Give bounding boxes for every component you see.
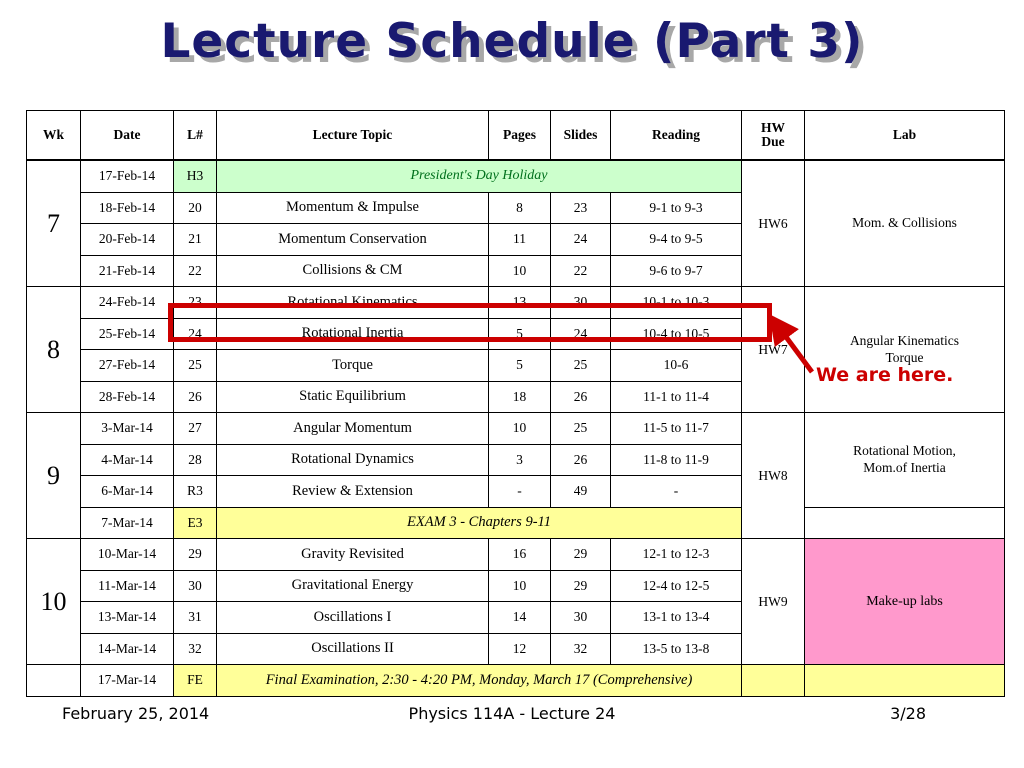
week-number: 9 [27, 413, 81, 539]
row-slides: 24 [551, 318, 611, 350]
row-lecture-number: 22 [174, 255, 217, 287]
row-reading: 13-1 to 13-4 [611, 602, 742, 634]
row-reading: 10-4 to 10-5 [611, 318, 742, 350]
row-lecture-number: R3 [174, 476, 217, 508]
row-slides: 26 [551, 444, 611, 476]
row-pages: 5 [489, 350, 551, 382]
row-lecture-number: 30 [174, 570, 217, 602]
row-lecture-number: 21 [174, 224, 217, 256]
row-slides: 29 [551, 539, 611, 571]
table-row: 7 17-Feb-14 H3 President's Day Holiday H… [27, 160, 1005, 192]
row-reading: 12-1 to 12-3 [611, 539, 742, 571]
row-slides: 23 [551, 192, 611, 224]
row-topic: Static Equilibrium [217, 381, 489, 413]
header-hw-due-line1: HW [761, 120, 785, 135]
row-date: 21-Feb-14 [81, 255, 174, 287]
row-pages: 13 [489, 287, 551, 319]
lab-cell-empty [805, 665, 1005, 697]
row-slides: 25 [551, 413, 611, 445]
row-lecture-number: 31 [174, 602, 217, 634]
row-date: 27-Feb-14 [81, 350, 174, 382]
row-topic: Momentum & Impulse [217, 192, 489, 224]
row-lecture-number: 28 [174, 444, 217, 476]
row-reading: 9-4 to 9-5 [611, 224, 742, 256]
row-lecture-number: 29 [174, 539, 217, 571]
row-reading: 10-6 [611, 350, 742, 382]
footer-page-number: 3/28 [890, 704, 926, 723]
header-lab: Lab [805, 111, 1005, 161]
hw-due-empty [742, 665, 805, 697]
week-number: 7 [27, 160, 81, 287]
row-date: 3-Mar-14 [81, 413, 174, 445]
row-pages: 10 [489, 413, 551, 445]
row-topic: Oscillations I [217, 602, 489, 634]
table-row: 8 24-Feb-14 23 Rotational Kinematics 13 … [27, 287, 1005, 319]
row-pages: 10 [489, 255, 551, 287]
row-pages: 14 [489, 602, 551, 634]
row-pages: 16 [489, 539, 551, 571]
row-reading: 12-4 to 12-5 [611, 570, 742, 602]
slide-footer: February 25, 2014 Physics 114A - Lecture… [0, 704, 1024, 728]
week-number: 8 [27, 287, 81, 413]
row-lecture-number: FE [174, 665, 217, 697]
header-hw-due-line2: Due [761, 134, 784, 149]
row-date: 7-Mar-14 [81, 507, 174, 539]
hw-due: HW6 [742, 160, 805, 287]
row-topic: Oscillations II [217, 633, 489, 665]
row-slides: 24 [551, 224, 611, 256]
row-slides: 29 [551, 570, 611, 602]
row-pages: 10 [489, 570, 551, 602]
row-pages: 11 [489, 224, 551, 256]
row-lecture-number: 32 [174, 633, 217, 665]
lab-line2: Mom.of Inertia [863, 460, 945, 475]
week-number-empty [27, 665, 81, 697]
row-topic: Review & Extension [217, 476, 489, 508]
lab-line1: Rotational Motion, [853, 443, 956, 458]
table-row-final: 17-Mar-14 FE Final Examination, 2:30 - 4… [27, 665, 1005, 697]
row-pages: 12 [489, 633, 551, 665]
row-topic: Rotational Inertia [217, 318, 489, 350]
lab-cell-empty [805, 507, 1005, 539]
table-row: 7-Mar-14 E3 EXAM 3 - Chapters 9-11 [27, 507, 1005, 539]
row-topic: Collisions & CM [217, 255, 489, 287]
row-topic: Gravity Revisited [217, 539, 489, 571]
week-number: 10 [27, 539, 81, 665]
row-date: 20-Feb-14 [81, 224, 174, 256]
row-lecture-number: E3 [174, 507, 217, 539]
hw-due: HW9 [742, 539, 805, 665]
lab-cell: Mom. & Collisions [805, 160, 1005, 287]
row-pages: 18 [489, 381, 551, 413]
row-pages: 3 [489, 444, 551, 476]
row-lecture-number: 25 [174, 350, 217, 382]
row-slides: 30 [551, 602, 611, 634]
row-reading: 9-1 to 9-3 [611, 192, 742, 224]
row-reading: 13-5 to 13-8 [611, 633, 742, 665]
row-pages: 5 [489, 318, 551, 350]
row-reading: - [611, 476, 742, 508]
page-title: Lecture Schedule (Part 3) [0, 14, 1024, 69]
header-date: Date [81, 111, 174, 161]
lab-cell: Rotational Motion, Mom.of Inertia [805, 413, 1005, 508]
row-lecture-number: 26 [174, 381, 217, 413]
row-date: 25-Feb-14 [81, 318, 174, 350]
row-date: 28-Feb-14 [81, 381, 174, 413]
row-lecture-number: 24 [174, 318, 217, 350]
row-topic: Angular Momentum [217, 413, 489, 445]
row-date: 17-Feb-14 [81, 160, 174, 192]
row-slides: 32 [551, 633, 611, 665]
footer-course: Physics 114A - Lecture 24 [0, 704, 1024, 723]
row-lecture-number: 23 [174, 287, 217, 319]
header-hw-due: HW Due [742, 111, 805, 161]
row-reading: 11-1 to 11-4 [611, 381, 742, 413]
row-slides: 25 [551, 350, 611, 382]
row-topic: Torque [217, 350, 489, 382]
lab-cell-makeup: Make-up labs [805, 539, 1005, 665]
hw-due: HW8 [742, 413, 805, 539]
row-pages: 8 [489, 192, 551, 224]
row-date: 14-Mar-14 [81, 633, 174, 665]
header-slides: Slides [551, 111, 611, 161]
header-reading: Reading [611, 111, 742, 161]
table-row: 10 10-Mar-14 29 Gravity Revisited 16 29 … [27, 539, 1005, 571]
lecture-schedule-table: Wk Date L# Lecture Topic Pages Slides Re… [26, 110, 1005, 697]
header-lnum: L# [174, 111, 217, 161]
row-date: 18-Feb-14 [81, 192, 174, 224]
row-topic: Gravitational Energy [217, 570, 489, 602]
hw-due: HW7 [742, 287, 805, 413]
row-slides: 30 [551, 287, 611, 319]
row-lecture-number: 20 [174, 192, 217, 224]
row-date: 6-Mar-14 [81, 476, 174, 508]
row-reading: 11-8 to 11-9 [611, 444, 742, 476]
table-row: 9 3-Mar-14 27 Angular Momentum 10 25 11-… [27, 413, 1005, 445]
row-reading: 11-5 to 11-7 [611, 413, 742, 445]
row-date: 11-Mar-14 [81, 570, 174, 602]
row-date: 13-Mar-14 [81, 602, 174, 634]
row-slides: 26 [551, 381, 611, 413]
header-pages: Pages [489, 111, 551, 161]
row-reading: 10-1 to 10-3 [611, 287, 742, 319]
table-header-row: Wk Date L# Lecture Topic Pages Slides Re… [27, 111, 1005, 161]
row-topic: Rotational Kinematics [217, 287, 489, 319]
lab-line1: Angular Kinematics [850, 333, 959, 348]
row-topic: Momentum Conservation [217, 224, 489, 256]
row-date: 10-Mar-14 [81, 539, 174, 571]
row-slides: 49 [551, 476, 611, 508]
row-date: 17-Mar-14 [81, 665, 174, 697]
row-lecture-number: H3 [174, 160, 217, 192]
header-wk: Wk [27, 111, 81, 161]
row-date: 4-Mar-14 [81, 444, 174, 476]
header-lecture-topic: Lecture Topic [217, 111, 489, 161]
final-exam-banner: Final Examination, 2:30 - 4:20 PM, Monda… [217, 665, 742, 697]
exam-banner: EXAM 3 - Chapters 9-11 [217, 507, 742, 539]
row-date: 24-Feb-14 [81, 287, 174, 319]
holiday-banner: President's Day Holiday [217, 160, 742, 192]
row-topic: Rotational Dynamics [217, 444, 489, 476]
row-pages: - [489, 476, 551, 508]
row-reading: 9-6 to 9-7 [611, 255, 742, 287]
lab-line2: Torque [885, 350, 923, 365]
row-lecture-number: 27 [174, 413, 217, 445]
lab-cell: Angular Kinematics Torque [805, 287, 1005, 413]
row-slides: 22 [551, 255, 611, 287]
